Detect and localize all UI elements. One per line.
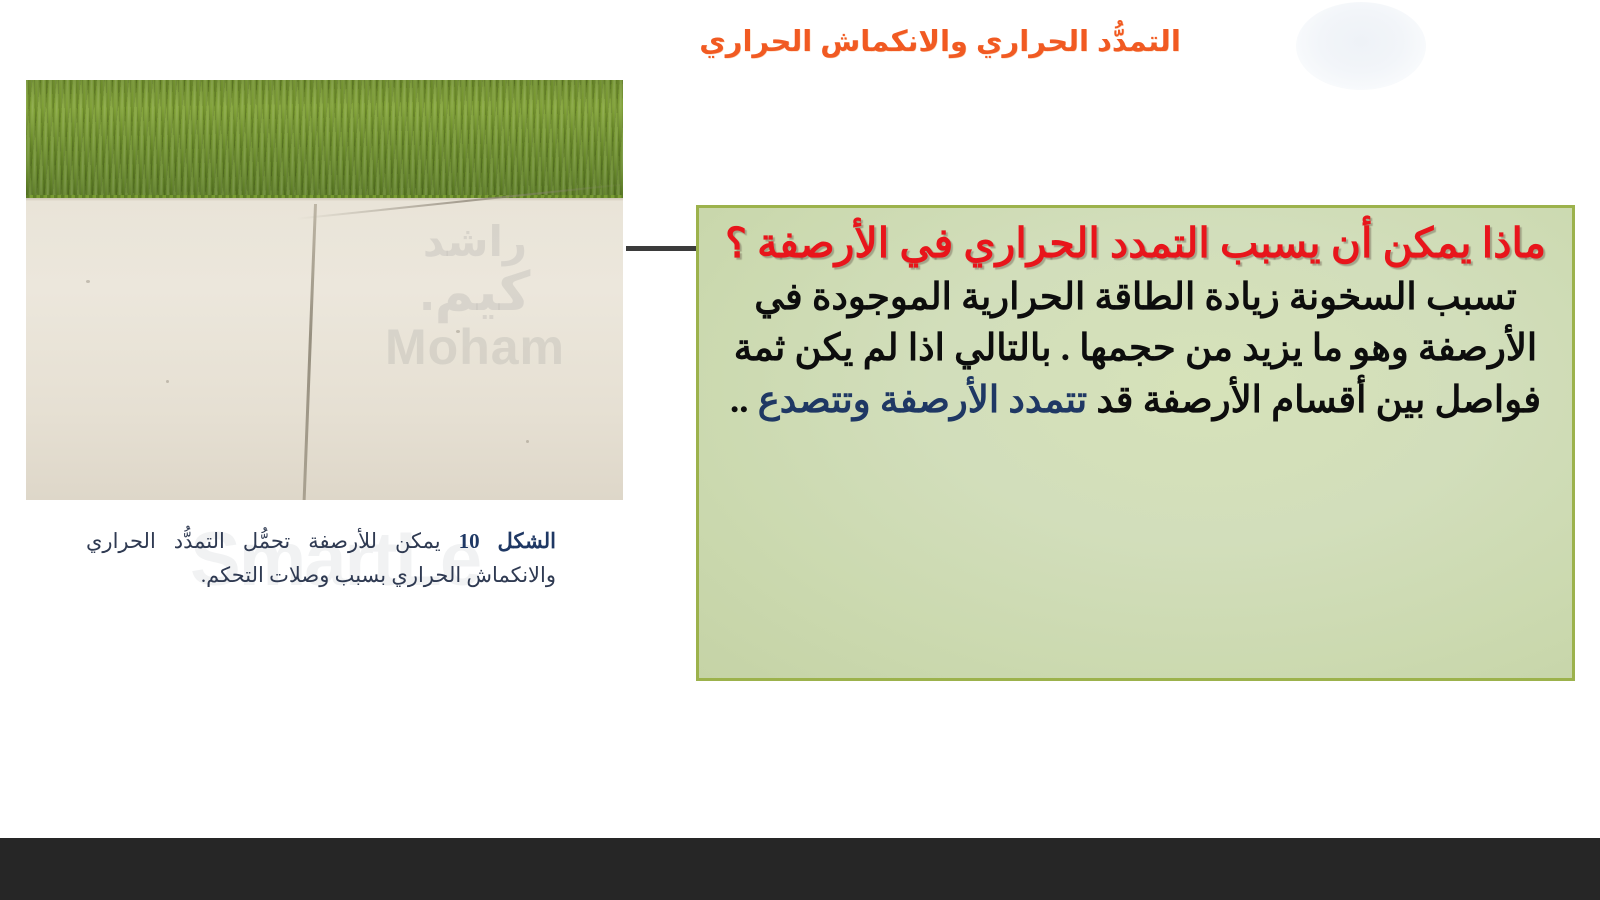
- concrete-speck: [166, 380, 169, 383]
- figure-caption-wrapper: SmartLe الشكل 10 يمكن للأرصفة تحمُّل الت…: [86, 524, 556, 592]
- question-heading: ماذا يمكن أن يسبب التمدد الحراري في الأر…: [717, 218, 1554, 270]
- page-title: التمدُّد الحراري والانكماش الحراري: [660, 22, 1220, 63]
- answer-highlighted-phrase: تتمدد الأرصفة وتتصدع: [758, 380, 1087, 421]
- answer-paragraph: تسبب السخونة زيادة الطاقة الحرارية الموج…: [717, 272, 1554, 427]
- figure-caption: الشكل 10 يمكن للأرصفة تحمُّل التمدُّد ال…: [86, 524, 556, 592]
- sidewalk-background: [26, 198, 623, 500]
- figure-number-label: الشكل 10: [459, 529, 556, 553]
- answer-text-part2: ..: [730, 380, 758, 421]
- concrete-speck: [456, 330, 460, 333]
- concrete-speck: [526, 440, 529, 443]
- footer-bar: [0, 838, 1600, 900]
- concrete-speck: [86, 280, 90, 283]
- answer-content-box: ماذا يمكن أن يسبب التمدد الحراري في الأر…: [696, 205, 1575, 681]
- slide-canvas: التمدُّد الحراري والانكماش الحراري: [0, 0, 1600, 900]
- decorative-oval-shape: [1296, 2, 1426, 90]
- callout-connector-line: [626, 246, 698, 251]
- figure-photo: راشد كيم. Moham: [26, 80, 623, 500]
- grass-background: [26, 80, 623, 202]
